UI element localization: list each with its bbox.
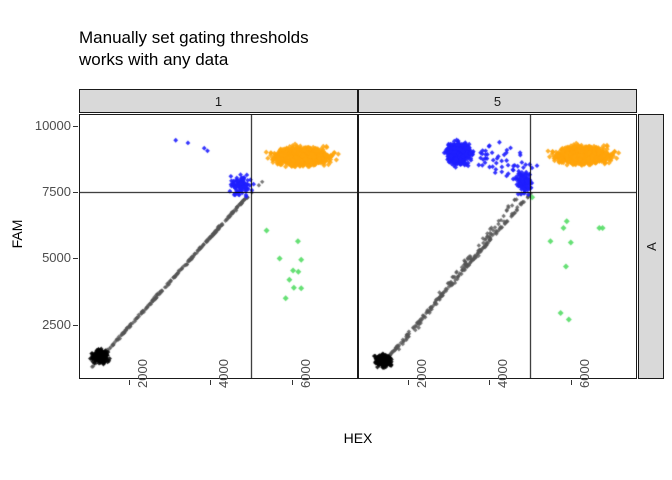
page-title: Manually set gating thresholds works wit… (79, 27, 619, 71)
scatter-canvas-5 (359, 115, 636, 378)
y-tick-mark (73, 192, 78, 193)
y-tick-mark (73, 258, 78, 259)
y-axis-title: FAM (9, 204, 25, 264)
x-tick-label: 6000 (298, 359, 313, 388)
facet-strip-column-5: 5 (358, 89, 637, 113)
scatter-panel-5 (358, 114, 637, 379)
x-tick-mark (129, 380, 130, 385)
x-tick-label: 4000 (495, 359, 510, 388)
facet-strip-label: A (643, 242, 658, 251)
x-tick-mark (292, 380, 293, 385)
x-tick-label: 6000 (577, 359, 592, 388)
x-tick-mark (571, 380, 572, 385)
y-tick-mark (73, 325, 78, 326)
x-tick-label: 2000 (135, 359, 150, 388)
y-tick-mark (73, 126, 78, 127)
scatter-canvas-1 (80, 115, 357, 378)
facet-strip-label: 5 (494, 94, 501, 109)
facet-strip-column-1: 1 (79, 89, 358, 113)
y-tick-label: 2500 (11, 317, 71, 332)
facet-strip-label: 1 (215, 94, 222, 109)
y-tick-label: 10000 (11, 118, 71, 133)
x-tick-label: 4000 (216, 359, 231, 388)
facet-strip-row-a: A (638, 114, 664, 379)
x-tick-mark (210, 380, 211, 385)
x-tick-mark (489, 380, 490, 385)
scatter-panel-1 (79, 114, 358, 379)
plot-root: Manually set gating thresholds works wit… (0, 0, 672, 480)
y-tick-label: 7500 (11, 184, 71, 199)
x-tick-label: 2000 (414, 359, 429, 388)
x-axis-title: HEX (79, 430, 637, 446)
x-tick-mark (408, 380, 409, 385)
